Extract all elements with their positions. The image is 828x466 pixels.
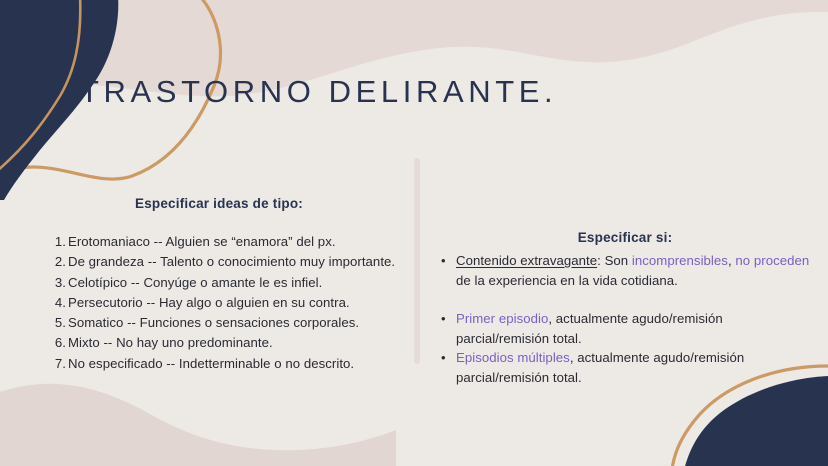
list-item: Somatico -- Funciones o sensaciones corp… [68, 313, 416, 333]
list-item: Mixto -- No hay uno predominante. [68, 333, 416, 353]
list-item: De grandeza -- Talento o conocimiento mu… [68, 252, 416, 272]
slide-canvas: TRASTORNO DELIRANTE. Especificar ideas d… [0, 0, 828, 466]
page-title: TRASTORNO DELIRANTE. [80, 74, 557, 110]
bullet-highlight-one: incomprensibles [632, 253, 728, 268]
bottom-blush-wave [0, 384, 396, 466]
bullet-lead-text: Contenido extravagante [456, 253, 597, 268]
bullet-tail-text: de la experiencia en la vida cotidiana. [456, 273, 678, 288]
idea-type-list: Erotomaniaco -- Alguien se “enamora” del… [22, 232, 416, 374]
gold-curve-navy-edge [0, 0, 80, 172]
list-item: No especificado -- Indetterminable o no … [68, 354, 416, 374]
navy-blob-bottom-right [684, 376, 828, 466]
list-item: Contenido extravagante: Son incomprensib… [440, 251, 810, 290]
list-item: Episodios múltiples, actualmente agudo/r… [440, 348, 810, 387]
list-item: Celotípico -- Conyúge o amante le es inf… [68, 273, 416, 293]
bullet-mid-text: : Son [597, 253, 632, 268]
left-section-heading: Especificar ideas de tipo: [22, 196, 416, 211]
list-item: Persecutorio -- Hay algo o alguien en su… [68, 293, 416, 313]
bullet-highlight-two: no proceden [735, 253, 809, 268]
bullet-highlight: Primer episodio [456, 311, 548, 326]
list-item: Primer episodio, actualmente agudo/remis… [440, 309, 810, 348]
bullet-highlight: Episodios múltiples [456, 350, 570, 365]
left-column: Especificar ideas de tipo: Erotomaniaco … [22, 196, 416, 374]
right-column: Especificar si: Contenido extravagante: … [440, 230, 810, 388]
right-section-heading: Especificar si: [440, 230, 810, 245]
list-item: Erotomaniaco -- Alguien se “enamora” del… [68, 232, 416, 252]
specifier-list: Contenido extravagante: Son incomprensib… [440, 251, 810, 388]
